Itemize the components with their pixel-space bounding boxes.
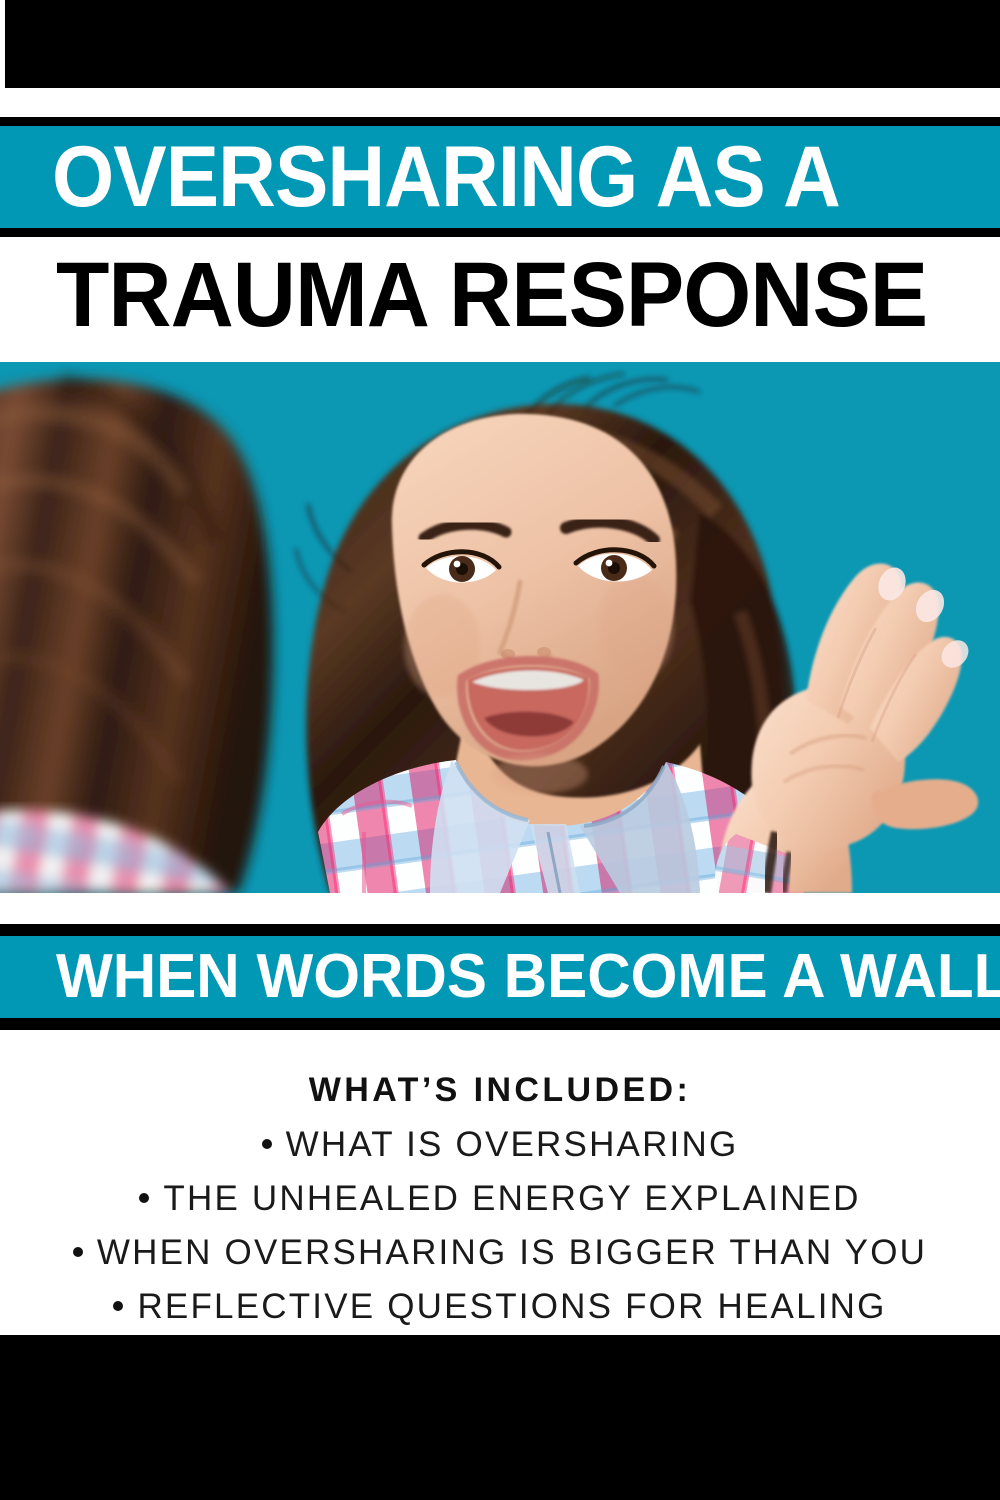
subtitle-teal-banner: WHEN WORDS BECOME A WALL — [0, 936, 1000, 1018]
title-line-1: OVERSHARING AS A — [52, 134, 840, 220]
title-line-2: TRAUMA RESPONSE — [56, 249, 927, 341]
title-rule-top — [0, 117, 1000, 126]
included-heading: WHAT’S INCLUDED: — [0, 1070, 1000, 1110]
subtitle-rule-bottom — [0, 1018, 1000, 1030]
subtitle-rule-top — [0, 924, 1000, 936]
bullet-dot-icon — [262, 1139, 272, 1149]
top-black-band — [5, 0, 1000, 88]
bullet-dot-icon — [73, 1247, 83, 1257]
list-item: REFLECTIVE QUESTIONS FOR HEALING — [0, 1280, 1000, 1334]
bullet-dot-icon — [139, 1193, 149, 1203]
list-item: THE UNHEALED ENERGY EXPLAINED — [0, 1172, 1000, 1226]
hero-photo — [0, 362, 1000, 893]
list-item-label: THE UNHEALED ENERGY EXPLAINED — [163, 1179, 860, 1218]
list-item-label: REFLECTIVE QUESTIONS FOR HEALING — [137, 1287, 886, 1326]
hero-photo-illustration — [0, 362, 1000, 893]
list-item-label: WHAT IS OVERSHARING — [286, 1125, 739, 1164]
bottom-black-band — [0, 1335, 1000, 1500]
pinterest-pin-graphic: OVERSHARING AS A TRAUMA RESPONSE — [0, 0, 1000, 1500]
list-item: WHAT IS OVERSHARING — [0, 1118, 1000, 1172]
included-list: WHAT IS OVERSHARING THE UNHEALED ENERGY … — [0, 1118, 1000, 1334]
title-black-row: TRAUMA RESPONSE — [0, 240, 1000, 350]
title-rule-bottom — [0, 228, 1000, 237]
list-item-label: WHEN OVERSHARING IS BIGGER THAN YOU — [97, 1233, 927, 1272]
title-teal-banner: OVERSHARING AS A — [0, 126, 1000, 228]
subtitle-text: WHEN WORDS BECOME A WALL — [56, 946, 1000, 1008]
list-item: WHEN OVERSHARING IS BIGGER THAN YOU — [0, 1226, 1000, 1280]
bullet-dot-icon — [113, 1301, 123, 1311]
